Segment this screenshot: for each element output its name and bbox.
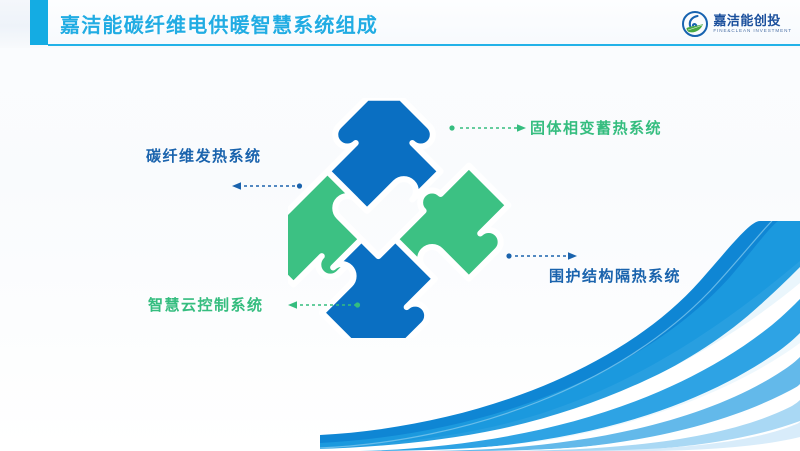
connector-arrow-envelope <box>505 250 577 262</box>
connector-arrow-carbon <box>232 180 304 192</box>
diagram-label-envelope: 围护结构隔热系统 <box>549 265 681 286</box>
diagram-label-phase: 固体相变蓄热系统 <box>530 117 662 138</box>
slide-canvas: 嘉洁能碳纤维电供暖智慧系统组成 嘉洁能创投 FINE&CLEAN INVESTM… <box>0 0 800 451</box>
diagram-label-cloud: 智慧云控制系统 <box>148 294 264 315</box>
slide-header: 嘉洁能碳纤维电供暖智慧系统组成 嘉洁能创投 FINE&CLEAN INVESTM… <box>0 0 800 48</box>
brand-logo-text: 嘉洁能创投 FINE&CLEAN INVESTMENT <box>713 14 792 34</box>
diagram-label-carbon: 碳纤维发热系统 <box>146 145 262 166</box>
brand-name-cn: 嘉洁能创投 <box>713 14 792 27</box>
connector-arrow-cloud <box>288 299 362 311</box>
connector-arrow-phase <box>448 122 526 134</box>
page-title: 嘉洁能碳纤维电供暖智慧系统组成 <box>60 9 378 38</box>
brand-name-en: FINE&CLEAN INVESTMENT <box>713 29 792 34</box>
header-accent-bar <box>30 0 48 45</box>
header-underline <box>48 44 800 46</box>
leaf-circle-logo-icon <box>682 11 708 37</box>
brand-logo: 嘉洁能创投 FINE&CLEAN INVESTMENT <box>682 10 792 38</box>
